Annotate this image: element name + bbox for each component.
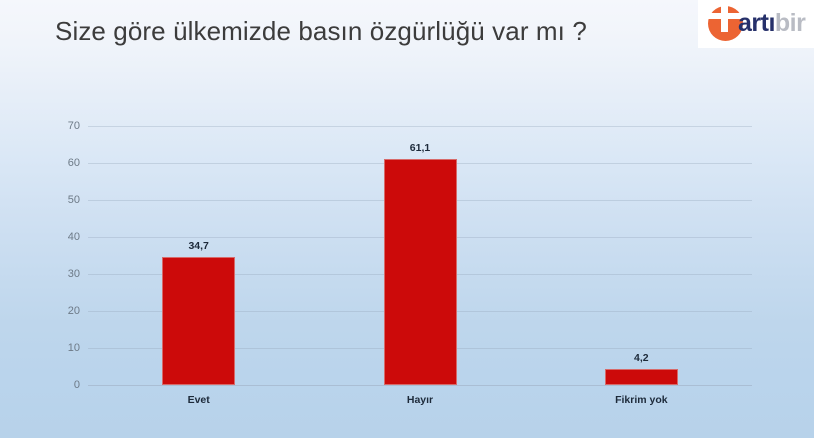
- x-axis-category-label: Fikrim yok: [615, 394, 668, 406]
- x-axis-category-label: Hayır: [407, 394, 433, 406]
- y-axis-tick-label: 50: [40, 194, 80, 206]
- y-axis-tick-label: 40: [40, 231, 80, 243]
- y-axis-tick-label: 60: [40, 157, 80, 169]
- gridline: [88, 126, 752, 127]
- slide-canvas: Size göre ülkemizde basın özgürlüğü var …: [0, 0, 814, 438]
- y-axis-tick-label: 0: [40, 379, 80, 391]
- bar-evet: [162, 257, 235, 385]
- y-axis-tick-label: 70: [40, 120, 80, 132]
- y-axis-tick-label: 10: [40, 342, 80, 354]
- bar-value-label: 34,7: [188, 240, 208, 252]
- bar-chart: EvetHayırFikrim yok 01020304050607034,76…: [0, 0, 814, 438]
- plot-area: [88, 126, 752, 385]
- bar-hayır: [384, 159, 457, 385]
- y-axis-tick-label: 20: [40, 305, 80, 317]
- bar-value-label: 61,1: [410, 142, 430, 154]
- x-axis-category-label: Evet: [188, 394, 210, 406]
- bar-fikrim-yok: [605, 369, 678, 385]
- y-axis-tick-label: 30: [40, 268, 80, 280]
- gridline: [88, 385, 752, 386]
- bar-value-label: 4,2: [634, 352, 649, 364]
